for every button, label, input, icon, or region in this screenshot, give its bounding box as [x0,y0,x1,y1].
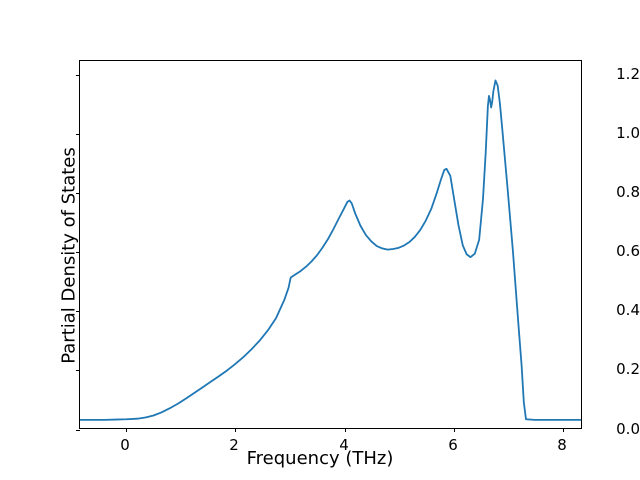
x-tick-3 [454,428,455,432]
plot-axes [79,60,582,429]
x-axis-label: Frequency (THz) [0,448,640,469]
x-tick-0 [126,428,127,432]
y-ticklabel-5: 1.0 [574,124,640,142]
y-ticklabel-1: 0.2 [574,360,640,378]
x-tick-1 [235,428,236,432]
y-axis-label-wrapper: Partial Density of States [24,75,25,76]
x-tick-2 [345,428,346,432]
y-ticklabel-4: 0.8 [574,183,640,201]
y-ticklabel-6: 1.2 [574,65,640,83]
figure-canvas: 0.0 0.2 0.4 0.6 0.8 1.0 1.2 0 2 4 6 8 Fr… [0,0,640,480]
chart-line-svg [80,61,581,428]
x-tick-4 [563,428,564,432]
y-ticklabel-0: 0.0 [574,420,640,438]
y-axis-label: Partial Density of States [59,76,80,436]
pdos-curve [80,80,581,419]
y-ticklabel-2: 0.4 [574,301,640,319]
y-ticklabel-3: 0.6 [574,242,640,260]
